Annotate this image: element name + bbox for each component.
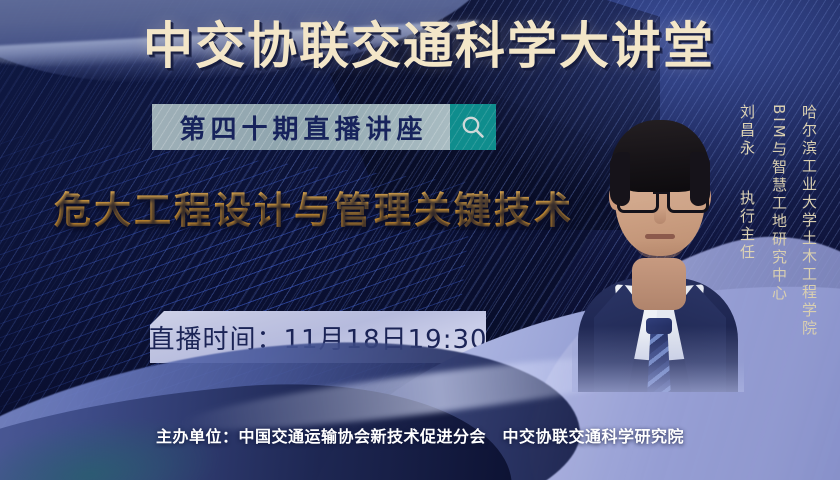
portrait-chin (634, 240, 686, 258)
speaker-portrait (572, 90, 744, 392)
speaker-name: 刘昌永 (737, 104, 758, 158)
speaker-school: 哈尔滨工业大学土木工程学院 (799, 104, 820, 338)
portrait-hair-left (610, 152, 630, 206)
search-icon (460, 114, 486, 140)
page-title: 中交协联交通科学大讲堂 (0, 18, 840, 74)
portrait-neck (632, 258, 686, 310)
speaker-role: 执行主任 (737, 190, 758, 262)
episode-band: 第四十期直播讲座 (152, 104, 450, 150)
episode-label: 第四十期直播讲座 (174, 109, 427, 146)
lecture-topic: 危大工程设计与管理关键技术 (54, 188, 574, 234)
portrait-mouth (645, 234, 675, 239)
portrait-bottom-fade (572, 326, 744, 392)
organizers-footer: 主办单位：中国交通运输协会新技术促进分会 中交协联交通科学研究院 (0, 423, 840, 447)
portrait-hair-right (690, 152, 710, 206)
lecture-poster: 中交协联交通科学大讲堂 第四十期直播讲座 危大工程设计与管理关键技术 直播时间：… (0, 0, 840, 480)
speaker-research-center: BIM与智慧工地研究中心 (769, 104, 790, 303)
search-button[interactable] (450, 104, 496, 150)
